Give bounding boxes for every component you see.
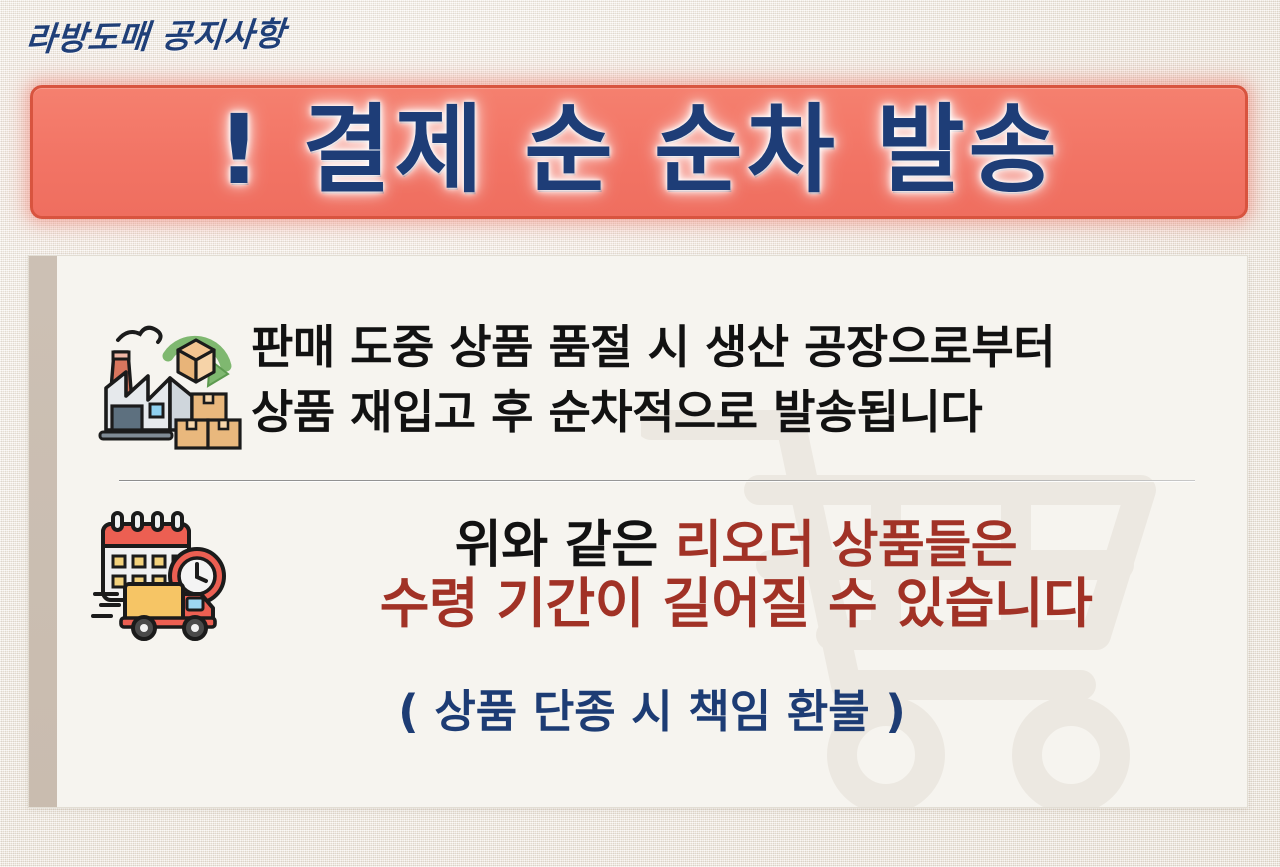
notice-row-delay: 위와 같은 리오더 상품들은 수령 기간이 길어질 수 있습니다 — [75, 481, 1229, 671]
card-accent-bar — [29, 256, 57, 807]
notice-line-3-highlight: 리오더 상품들은 — [675, 516, 1017, 575]
notice-line-1: 판매 도중 상품 품절 시 생산 공장으로부터 — [251, 315, 1229, 380]
calendar-clock-truck-icon — [83, 501, 243, 651]
notice-row-reorder: 판매 도중 상품 품절 시 생산 공장으로부터 상품 재입고 후 순차적으로 발… — [75, 282, 1229, 478]
notice-line-3-plain: 위와 같은 — [455, 516, 675, 575]
notice-line-4: 수령 기간이 길어질 수 있습니다 — [243, 574, 1229, 634]
poster-canvas: 라방도매 공지사항 ! 결제 순 순차 발송 — [0, 0, 1280, 867]
card-content: 판매 도중 상품 품절 시 생산 공장으로부터 상품 재입고 후 순차적으로 발… — [57, 256, 1247, 807]
title-banner: ! 결제 순 순차 발송 — [30, 85, 1248, 219]
reorder-text-block: 판매 도중 상품 품절 시 생산 공장으로부터 상품 재입고 후 순차적으로 발… — [251, 315, 1229, 446]
delay-text-block: 위와 같은 리오더 상품들은 수령 기간이 길어질 수 있습니다 — [243, 517, 1229, 635]
notice-line-2: 상품 재입고 후 순차적으로 발송됩니다 — [251, 380, 1229, 445]
brand-notice-header: 라방도매 공지사항 — [24, 13, 287, 60]
notice-line-3: 위와 같은 리오더 상품들은 — [243, 517, 1229, 574]
factory-reorder-icon — [91, 305, 251, 455]
title-banner-text: ! 결제 순 순차 발송 — [217, 102, 1061, 198]
notice-card: 판매 도중 상품 품절 시 생산 공장으로부터 상품 재입고 후 순차적으로 발… — [28, 255, 1248, 808]
refund-note: ( 상품 단종 시 책임 환불 ) — [75, 675, 1229, 740]
